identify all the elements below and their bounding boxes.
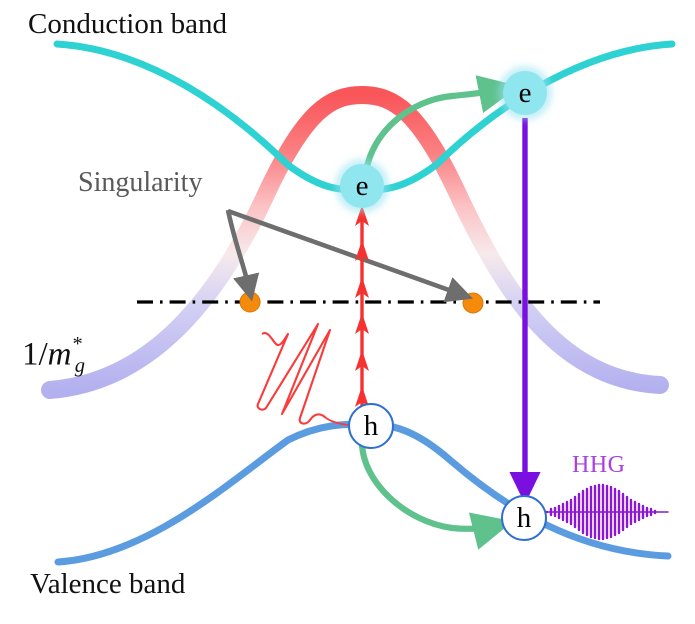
driving-laser-pulse: [258, 324, 330, 424]
conduction-band-label: Conduction band: [28, 8, 227, 41]
electron-on-conduction: e: [503, 71, 547, 115]
valence-band-label: Valence band: [30, 568, 185, 601]
figure-canvas: Conduction band Valence band Singularity…: [0, 0, 695, 624]
hole-recombination: h: [501, 495, 547, 541]
mass-numerator: 1/: [22, 337, 48, 373]
singularity-dot-right: [463, 293, 483, 313]
multiphoton-excitation-arrow: [355, 205, 369, 420]
electron-in-gap: e: [340, 164, 384, 208]
hhg-label: HHG: [572, 452, 626, 479]
mass-symbol: m: [48, 337, 72, 373]
singularity-label: Singularity: [78, 167, 202, 199]
inverse-effective-mass-label: 1/m*g: [22, 333, 85, 378]
band-structure-svg: [0, 0, 695, 624]
hole-symbol: h: [364, 410, 379, 443]
singularity-dot-left: [240, 292, 260, 312]
hole-at-valence-top: h: [348, 403, 394, 449]
mass-subscript: g: [75, 355, 85, 377]
hole-symbol: h: [517, 502, 532, 535]
mass-superscript: *: [73, 333, 83, 355]
electron-symbol: e: [356, 170, 369, 203]
hole-transport-arrow: [362, 442, 494, 529]
inverse-effective-mass-curve: [50, 95, 660, 390]
electron-symbol: e: [519, 77, 532, 110]
singularity-pointer-right-arrow: [228, 211, 460, 294]
